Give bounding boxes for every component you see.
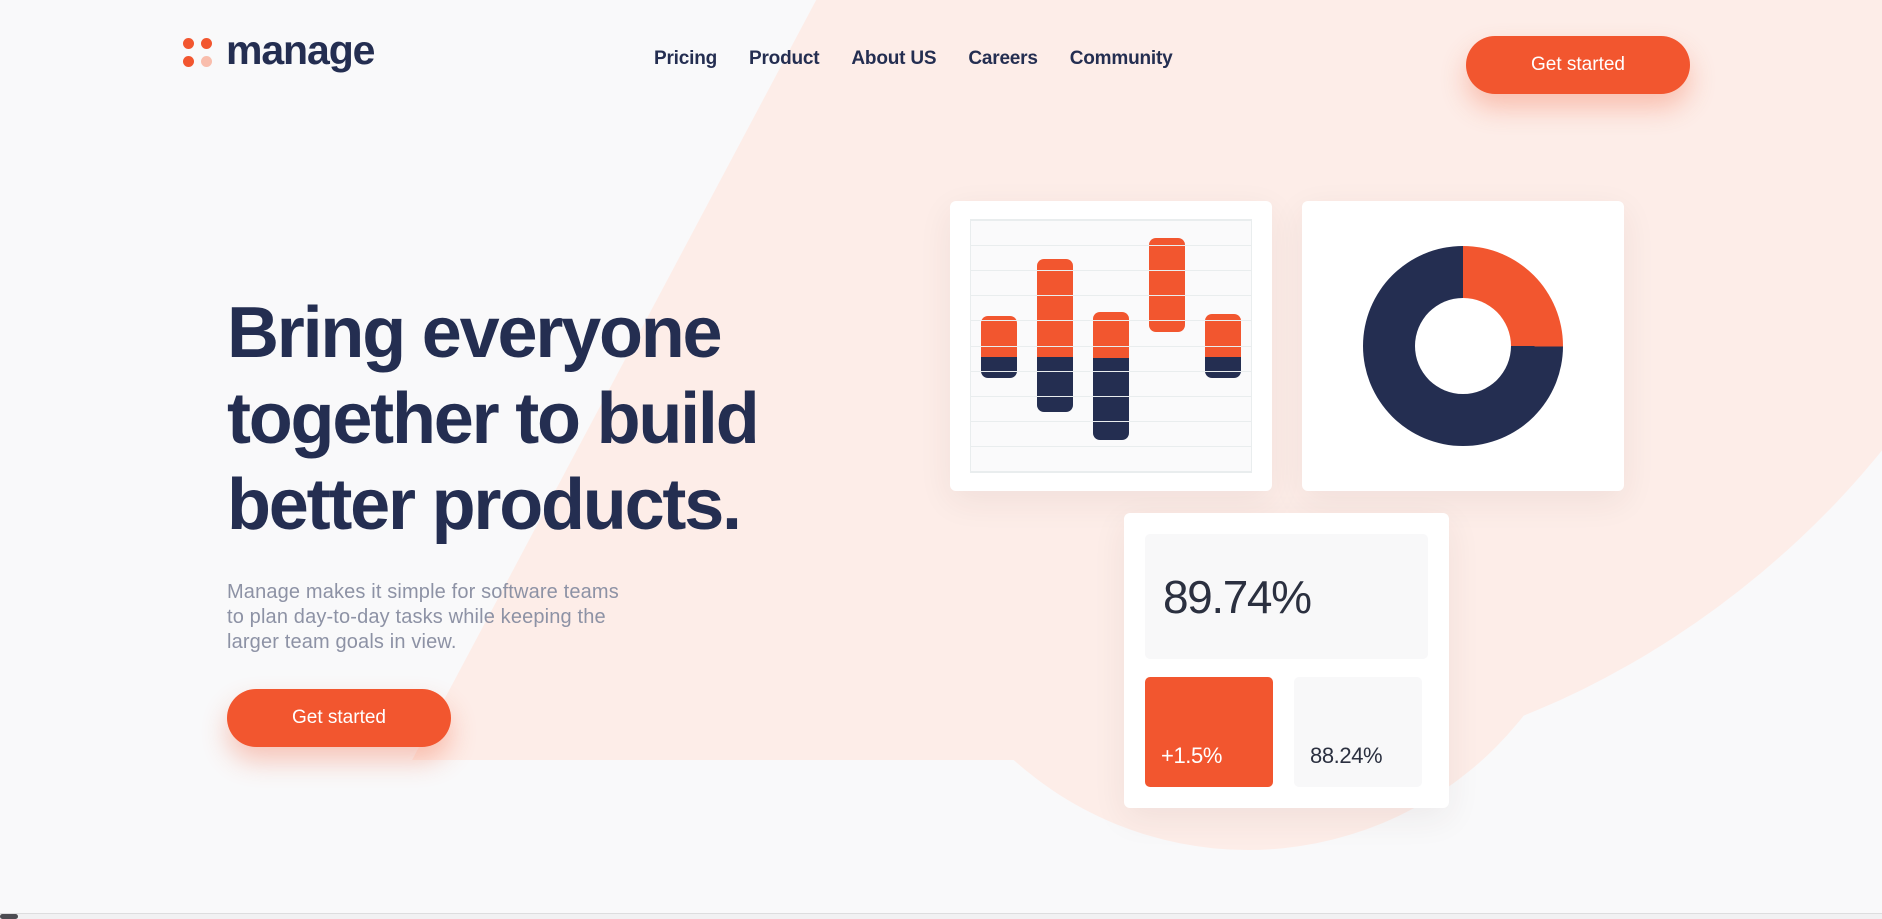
grid-line bbox=[971, 220, 1251, 221]
grid-line bbox=[971, 446, 1251, 447]
brand-name: manage bbox=[226, 30, 374, 71]
grid-line bbox=[971, 396, 1251, 397]
grid-line bbox=[971, 270, 1251, 271]
bar-segment-positive bbox=[1093, 312, 1129, 358]
hero-subtitle: Manage makes it simple for software team… bbox=[227, 580, 867, 655]
bar-segment-positive bbox=[981, 316, 1017, 357]
brand-logo[interactable]: manage bbox=[183, 30, 374, 71]
grid-line bbox=[971, 371, 1251, 372]
horizontal-scrollbar[interactable] bbox=[0, 913, 1882, 919]
nav-item-about-us[interactable]: About US bbox=[847, 46, 940, 72]
main-nav: Pricing Product About US Careers Communi… bbox=[650, 46, 1176, 72]
stats-card: 89.74% +1.5% 88.24% bbox=[1124, 513, 1449, 808]
logo-dot-1 bbox=[183, 38, 194, 49]
bar-1 bbox=[981, 316, 1017, 378]
nav-item-pricing[interactable]: Pricing bbox=[650, 46, 721, 72]
donut-chart-card bbox=[1302, 201, 1624, 491]
secondary-stats-row: +1.5% 88.24% bbox=[1145, 677, 1428, 787]
header-get-started-button[interactable]: Get started bbox=[1466, 36, 1690, 94]
bar-segment-negative bbox=[1205, 357, 1241, 378]
bar-segment-positive bbox=[1037, 259, 1073, 357]
bar-4 bbox=[1149, 238, 1185, 332]
hero-get-started-button[interactable]: Get started bbox=[227, 689, 451, 747]
bar-chart-card bbox=[950, 201, 1272, 491]
nav-item-product[interactable]: Product bbox=[745, 46, 823, 72]
grid-line bbox=[971, 295, 1251, 296]
bar-segment-positive bbox=[1149, 238, 1185, 332]
logo-dot-2 bbox=[201, 38, 212, 49]
page-title: Bring everyone together to build better … bbox=[227, 290, 867, 548]
delta-stat-tile: +1.5% bbox=[1145, 677, 1273, 787]
logo-dot-4 bbox=[201, 56, 212, 67]
landing-page: manage Pricing Product About US Careers … bbox=[0, 0, 1882, 919]
grid-line bbox=[971, 471, 1251, 472]
four-dots-icon bbox=[183, 38, 212, 67]
grid-line bbox=[971, 320, 1251, 321]
bar-2 bbox=[1037, 259, 1073, 412]
secondary-stat-tile: 88.24% bbox=[1294, 677, 1422, 787]
donut-chart bbox=[1363, 246, 1563, 446]
site-header: manage Pricing Product About US Careers … bbox=[0, 0, 1882, 104]
bar-segment-negative bbox=[981, 357, 1017, 378]
nav-item-community[interactable]: Community bbox=[1066, 46, 1177, 72]
donut-hole bbox=[1415, 298, 1511, 394]
nav-item-careers[interactable]: Careers bbox=[964, 46, 1041, 72]
grid-line bbox=[971, 421, 1251, 422]
bar-chart-plot-area bbox=[970, 219, 1252, 473]
primary-stat-tile: 89.74% bbox=[1145, 534, 1428, 659]
hero-section: Bring everyone together to build better … bbox=[227, 290, 867, 747]
horizontal-scrollbar-thumb[interactable] bbox=[0, 914, 18, 919]
primary-stat-value: 89.74% bbox=[1163, 570, 1311, 624]
logo-dot-3 bbox=[183, 56, 194, 67]
bar-segment-negative bbox=[1037, 357, 1073, 412]
grid-line bbox=[971, 245, 1251, 246]
grid-line bbox=[971, 346, 1251, 347]
